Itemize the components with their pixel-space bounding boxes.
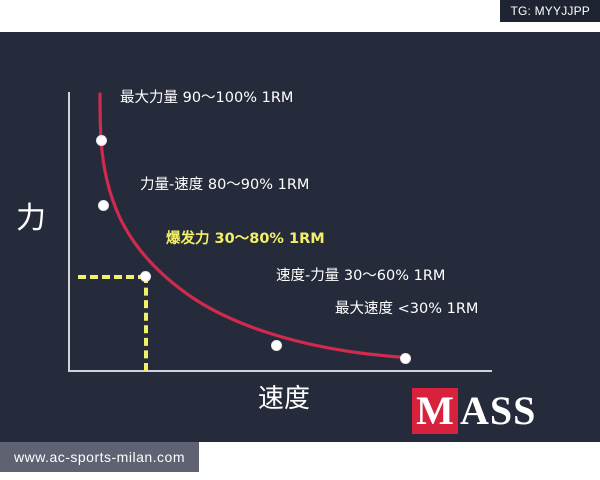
mass-logo: M ASS xyxy=(412,388,536,434)
data-point xyxy=(400,353,411,364)
guide-line-horizontal xyxy=(78,275,146,279)
logo-letters-ass: ASS xyxy=(460,388,536,434)
data-point xyxy=(271,340,282,351)
chart-panel: 力 速度 最大力量 90～100% 1RM 力量-速度 80～90% 1RM 爆… xyxy=(0,32,600,442)
annotation-strength-speed: 力量-速度 80～90% 1RM xyxy=(140,173,309,194)
top-strip: TG: MYYJJPP xyxy=(0,0,600,32)
annotation-max-strength: 最大力量 90～100% 1RM xyxy=(120,86,293,107)
bottom-strip: www.ac-sports-milan.com xyxy=(0,442,600,480)
guide-line-vertical xyxy=(144,275,148,371)
data-point xyxy=(98,200,109,211)
logo-letter-m: M xyxy=(412,388,458,434)
data-point xyxy=(96,135,107,146)
data-point xyxy=(140,271,151,282)
source-url: www.ac-sports-milan.com xyxy=(0,442,199,472)
chart-screenshot: TG: MYYJJPP 力 速度 最大力量 90～100% 1RM 力量-速度 … xyxy=(0,0,600,480)
annotation-power: 爆发力 30～80% 1RM xyxy=(166,227,325,248)
annotation-max-speed: 最大速度 <30% 1RM xyxy=(335,297,478,318)
tg-badge: TG: MYYJJPP xyxy=(500,0,600,22)
annotation-speed-strength: 速度-力量 30～60% 1RM xyxy=(276,264,445,285)
